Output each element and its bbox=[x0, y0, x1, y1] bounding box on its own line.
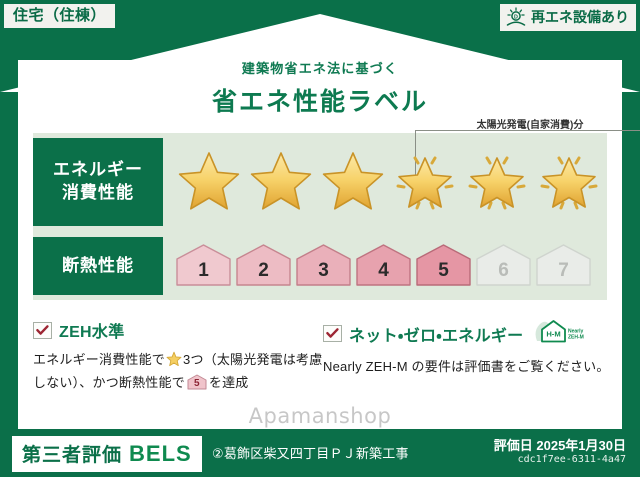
insulation-level-scale: 1 2 3 bbox=[175, 243, 592, 287]
insulation-level-5: 5 bbox=[415, 243, 472, 287]
label-footer: 第三者評価 BELS ②葛飾区柴又四丁目ＰＪ新築工事 評価日 2025年1月30… bbox=[0, 429, 640, 477]
insulation-level-2: 2 bbox=[235, 243, 292, 287]
insulation-label: 断熱性能 bbox=[62, 255, 134, 278]
insulation-level-7: 7 bbox=[535, 243, 592, 287]
zeh-m-house-logo: H-M Nearly ZEH-M bbox=[534, 318, 586, 349]
evaluation-id: cdc1f7ee-6311-4a47 bbox=[518, 454, 626, 465]
net-zero-energy-heading: ネット・ゼロ・エネルギー H-M Nearly ZEH-M bbox=[323, 318, 613, 349]
net-zero-energy-column: ネット・ゼロ・エネルギー H-M Nearly ZEH-M Nearly ZEH… bbox=[323, 318, 613, 408]
zeh-desc-post: を達成 bbox=[209, 375, 249, 390]
evaluation-date: 評価日 2025年1月30日 bbox=[494, 435, 626, 454]
energy-label-line2: 消費性能 bbox=[62, 182, 134, 205]
zeh-standard-column: ZEH水準 エネルギー消費性能で 3つ（太陽光発電は考慮しない）、かつ断熱性能で… bbox=[33, 318, 323, 408]
title-subtitle: 建築物省エネ法に基づく bbox=[0, 58, 640, 77]
star-solar-icon bbox=[463, 146, 531, 216]
insulation-level-4: 4 bbox=[355, 243, 412, 287]
insulation-level-badge-icon: 5 bbox=[187, 374, 207, 390]
insulation-level-3: 3 bbox=[295, 243, 352, 287]
insulation-levels-area: 1 2 3 bbox=[163, 237, 607, 295]
insulation-level-4-value: 4 bbox=[378, 260, 389, 282]
renewable-badge-label: 再エネ設備あり bbox=[531, 10, 629, 24]
insulation-performance-label-box: 断熱性能 bbox=[33, 237, 163, 295]
label-title-block: 建築物省エネ法に基づく 省エネ性能ラベル bbox=[0, 58, 640, 118]
star-rating bbox=[175, 146, 603, 216]
bels-logo-en: BELS bbox=[129, 441, 192, 467]
certification-columns: ZEH水準 エネルギー消費性能で 3つ（太陽光発電は考慮しない）、かつ断熱性能で… bbox=[33, 318, 613, 408]
check-icon bbox=[33, 322, 52, 339]
insulation-level-2-value: 2 bbox=[258, 260, 269, 282]
check-icon bbox=[323, 325, 342, 342]
star-solar-icon bbox=[535, 146, 603, 216]
renewable-equipment-badge: D 再エネ設備あり bbox=[500, 4, 636, 31]
star-solar-icon bbox=[391, 146, 459, 216]
zeh-standard-heading: ZEH水準 bbox=[33, 318, 323, 342]
insulation-level-5-value: 5 bbox=[438, 260, 449, 282]
star-icon bbox=[319, 146, 387, 216]
solar-sun-icon: D bbox=[505, 7, 527, 27]
insulation-level-6: 6 bbox=[475, 243, 532, 287]
energy-performance-label: 住宅（住棟） D 再エネ設備あり 建築物省エネ法に基づく 省エネ性能ラベル bbox=[0, 0, 640, 477]
zeh-desc-pre: エネルギー消費性能で bbox=[33, 352, 165, 367]
insulation-level-badge-value: 5 bbox=[187, 376, 207, 392]
svg-text:D: D bbox=[514, 15, 518, 21]
insulation-level-3-value: 3 bbox=[318, 260, 329, 282]
housing-type-tag: 住宅（住棟） bbox=[4, 4, 115, 28]
page-title: 省エネ性能ラベル bbox=[0, 82, 640, 118]
net-zero-energy-description: Nearly ZEH-M の要件は評価書をご覧ください。 bbox=[323, 357, 613, 377]
insulation-level-1-value: 1 bbox=[198, 260, 209, 282]
energy-label-line1: エネルギー bbox=[53, 159, 143, 182]
star-icon bbox=[247, 146, 315, 216]
bels-logo-jp: 第三者評価 bbox=[22, 440, 122, 467]
energy-performance-label-box: エネルギー 消費性能 bbox=[33, 138, 163, 226]
energy-stars-area: 太陽光発電(自家消費)分 bbox=[163, 138, 607, 226]
net-zero-energy-title: ネット・ゼロ・エネルギー bbox=[349, 322, 523, 346]
star-icon bbox=[166, 351, 182, 373]
zeh-standard-title: ZEH水準 bbox=[59, 318, 125, 342]
building-name: ②葛飾区柴又四丁目ＰＪ新築工事 bbox=[212, 443, 409, 462]
energy-performance-row: エネルギー 消費性能 太陽光発電(自家消費)分 bbox=[33, 138, 607, 226]
insulation-level-7-value: 7 bbox=[558, 260, 569, 282]
bels-logo: 第三者評価 BELS bbox=[12, 436, 202, 472]
ratings-panel: エネルギー 消費性能 太陽光発電(自家消費)分 bbox=[33, 133, 607, 300]
zeh-m-logo-main: H-M bbox=[547, 329, 561, 338]
solar-generation-note: 太陽光発電(自家消費)分 bbox=[415, 116, 640, 131]
insulation-performance-row: 断熱性能 1 2 bbox=[33, 237, 607, 295]
zeh-standard-description: エネルギー消費性能で 3つ（太陽光発電は考慮しない）、かつ断熱性能で 5 を達成 bbox=[33, 350, 323, 393]
insulation-level-6-value: 6 bbox=[498, 260, 509, 282]
insulation-level-1: 1 bbox=[175, 243, 232, 287]
zeh-m-logo-sub2: ZEH-M bbox=[568, 335, 584, 341]
star-icon bbox=[175, 146, 243, 216]
